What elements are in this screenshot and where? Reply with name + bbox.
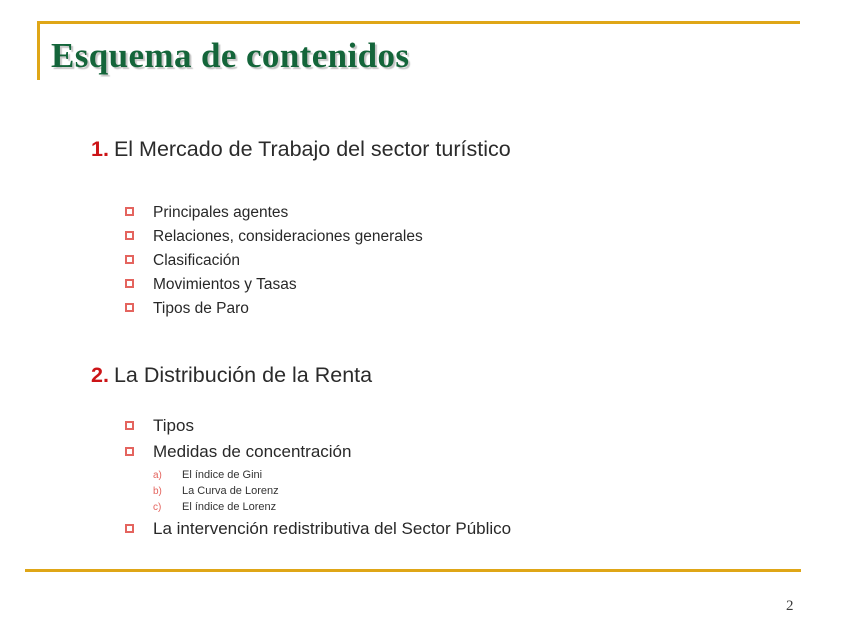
square-bullet-icon: [125, 240, 153, 241]
list-item-label: La intervención redistributiva del Secto…: [153, 519, 511, 539]
list-item: Tipos de Paro: [125, 300, 765, 324]
list-item-label: Tipos: [153, 416, 194, 436]
section-heading-2: 2.La Distribución de la Renta: [91, 362, 372, 388]
section-2-sublist: a) El índice de Gini b) La Curva de Lore…: [125, 469, 765, 517]
list-item: Relaciones, consideraciones generales: [125, 228, 765, 252]
sub-list-marker: a): [153, 470, 182, 481]
sub-list-item: c) El índice de Lorenz: [125, 501, 765, 517]
section-heading-1: 1.El Mercado de Trabajo del sector turís…: [91, 136, 511, 162]
square-bullet-icon: [125, 533, 153, 534]
square-bullet-icon: [125, 216, 153, 217]
top-gold-rule: [37, 21, 800, 24]
square-bullet-icon: [125, 430, 153, 431]
square-bullet-icon: [125, 456, 153, 457]
sub-list-item-label: El índice de Gini: [182, 469, 262, 481]
list-item-label: Principales agentes: [153, 204, 288, 222]
sub-list-item-label: La Curva de Lorenz: [182, 485, 279, 497]
list-item-label: Relaciones, consideraciones generales: [153, 228, 423, 246]
section-1-number: 1.: [91, 137, 109, 161]
section-1-bullet-list: Principales agentes Relaciones, consider…: [125, 204, 765, 324]
page-number: 2: [786, 598, 794, 615]
bottom-gold-rule: [25, 569, 801, 572]
list-item: Principales agentes: [125, 204, 765, 228]
section-1-title: El Mercado de Trabajo del sector turísti…: [114, 137, 511, 161]
list-item-label: Clasificación: [153, 252, 240, 270]
sub-list-item: b) La Curva de Lorenz: [125, 485, 765, 501]
section-1-head: 1.El Mercado de Trabajo del sector turís…: [91, 136, 511, 162]
sub-list-marker: c): [153, 502, 182, 513]
sub-list-item-label: El índice de Lorenz: [182, 501, 276, 513]
list-item: La intervención redistributiva del Secto…: [125, 519, 765, 545]
list-item-label: Medidas de concentración: [153, 442, 351, 462]
sub-list-marker: b): [153, 486, 182, 497]
square-bullet-icon: [125, 264, 153, 265]
list-item: Clasificación: [125, 252, 765, 276]
list-item: Tipos: [125, 416, 765, 442]
page-title: Esquema de contenidos: [51, 36, 409, 76]
section-2-head: 2.La Distribución de la Renta: [91, 362, 372, 388]
list-item: Movimientos y Tasas: [125, 276, 765, 300]
section-2-number: 2.: [91, 363, 109, 387]
left-gold-rule: [37, 21, 40, 80]
list-item: Medidas de concentración: [125, 442, 765, 468]
square-bullet-icon: [125, 288, 153, 289]
slide-canvas: Esquema de contenidos 1.El Mercado de Tr…: [0, 0, 848, 636]
sub-list-item: a) El índice de Gini: [125, 469, 765, 485]
square-bullet-icon: [125, 312, 153, 313]
section-2-title: La Distribución de la Renta: [114, 363, 372, 387]
list-item-label: Movimientos y Tasas: [153, 276, 297, 294]
list-item-label: Tipos de Paro: [153, 300, 249, 318]
section-2-bullet-list: Tipos Medidas de concentración a) El índ…: [125, 416, 765, 545]
